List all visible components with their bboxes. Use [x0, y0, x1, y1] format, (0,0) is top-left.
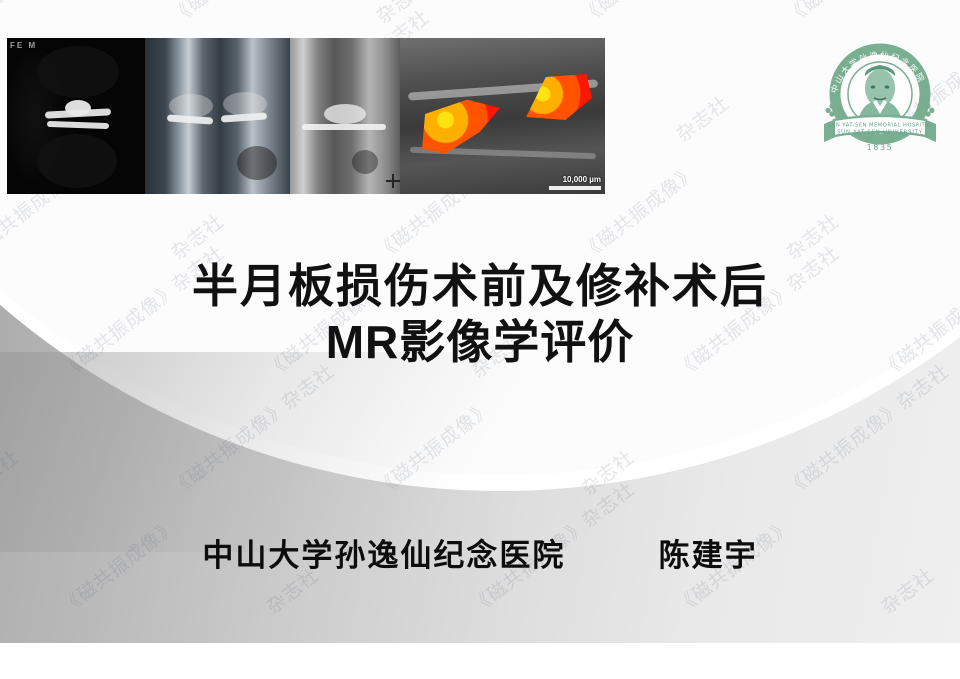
joint-space-line	[302, 124, 386, 130]
crosshair-marker	[386, 174, 400, 188]
tibial-spine	[324, 104, 366, 124]
mri-panel-3	[290, 38, 400, 194]
slide-title-line-2: MR影像学评价	[0, 314, 960, 370]
logo-banner-line-1: SUN YAT-SEN MEMORIAL HOSPITAL	[828, 123, 932, 129]
scale-bar-line	[549, 186, 601, 190]
tibia-shadow	[37, 134, 117, 188]
mri-panel-1-corner-tag: FE M	[10, 41, 37, 50]
mri-panel-2	[145, 38, 290, 194]
mri-panel-4: 10,000 µm	[400, 38, 605, 194]
scale-bar-label: 10,000 µm	[563, 176, 601, 184]
knee-mri-figure: FE M 10,000 µm	[7, 38, 605, 194]
mri-panel-1: FE M	[7, 38, 145, 194]
slide-footer: 中山大学孙逸仙纪念医院 陈建宇	[0, 530, 960, 575]
meniscus-heatmap-lateral	[522, 74, 592, 124]
scale-bar: 10,000 µm	[549, 176, 601, 190]
footer-presenter: 陈建宇	[659, 538, 758, 573]
slide-title: 半月板损伤术前及修补术后 MR影像学评价	[0, 258, 960, 370]
footer-institution: 中山大学孙逸仙纪念医院	[202, 538, 565, 573]
soft-tissue	[237, 146, 277, 180]
medial-condyle	[169, 94, 213, 118]
lateral-condyle	[223, 92, 267, 116]
cyst-region	[352, 150, 378, 174]
presentation-slide: 《磁共振成像》杂志社《磁共振成像》杂志社《磁共振成像》杂志社《磁共振成像》杂志社…	[0, 0, 960, 643]
joint-space-line	[47, 121, 109, 129]
logo-banner-line-2: SUN YAT-SEN UNIVERSITY	[837, 130, 923, 136]
meniscus-heatmap-medial	[422, 96, 500, 156]
femoral-condyle	[65, 100, 91, 116]
page-bottom-margin	[0, 643, 960, 679]
femur-shadow	[37, 46, 119, 98]
slide-title-line-1: 半月板损伤术前及修补术后	[0, 258, 960, 314]
logo-year: 1835	[867, 143, 894, 152]
hospital-logo-icon: 中山大学孙逸仙纪念医院 SUN YAT-SEN MEMORIAL HOSPITA…	[816, 32, 944, 160]
